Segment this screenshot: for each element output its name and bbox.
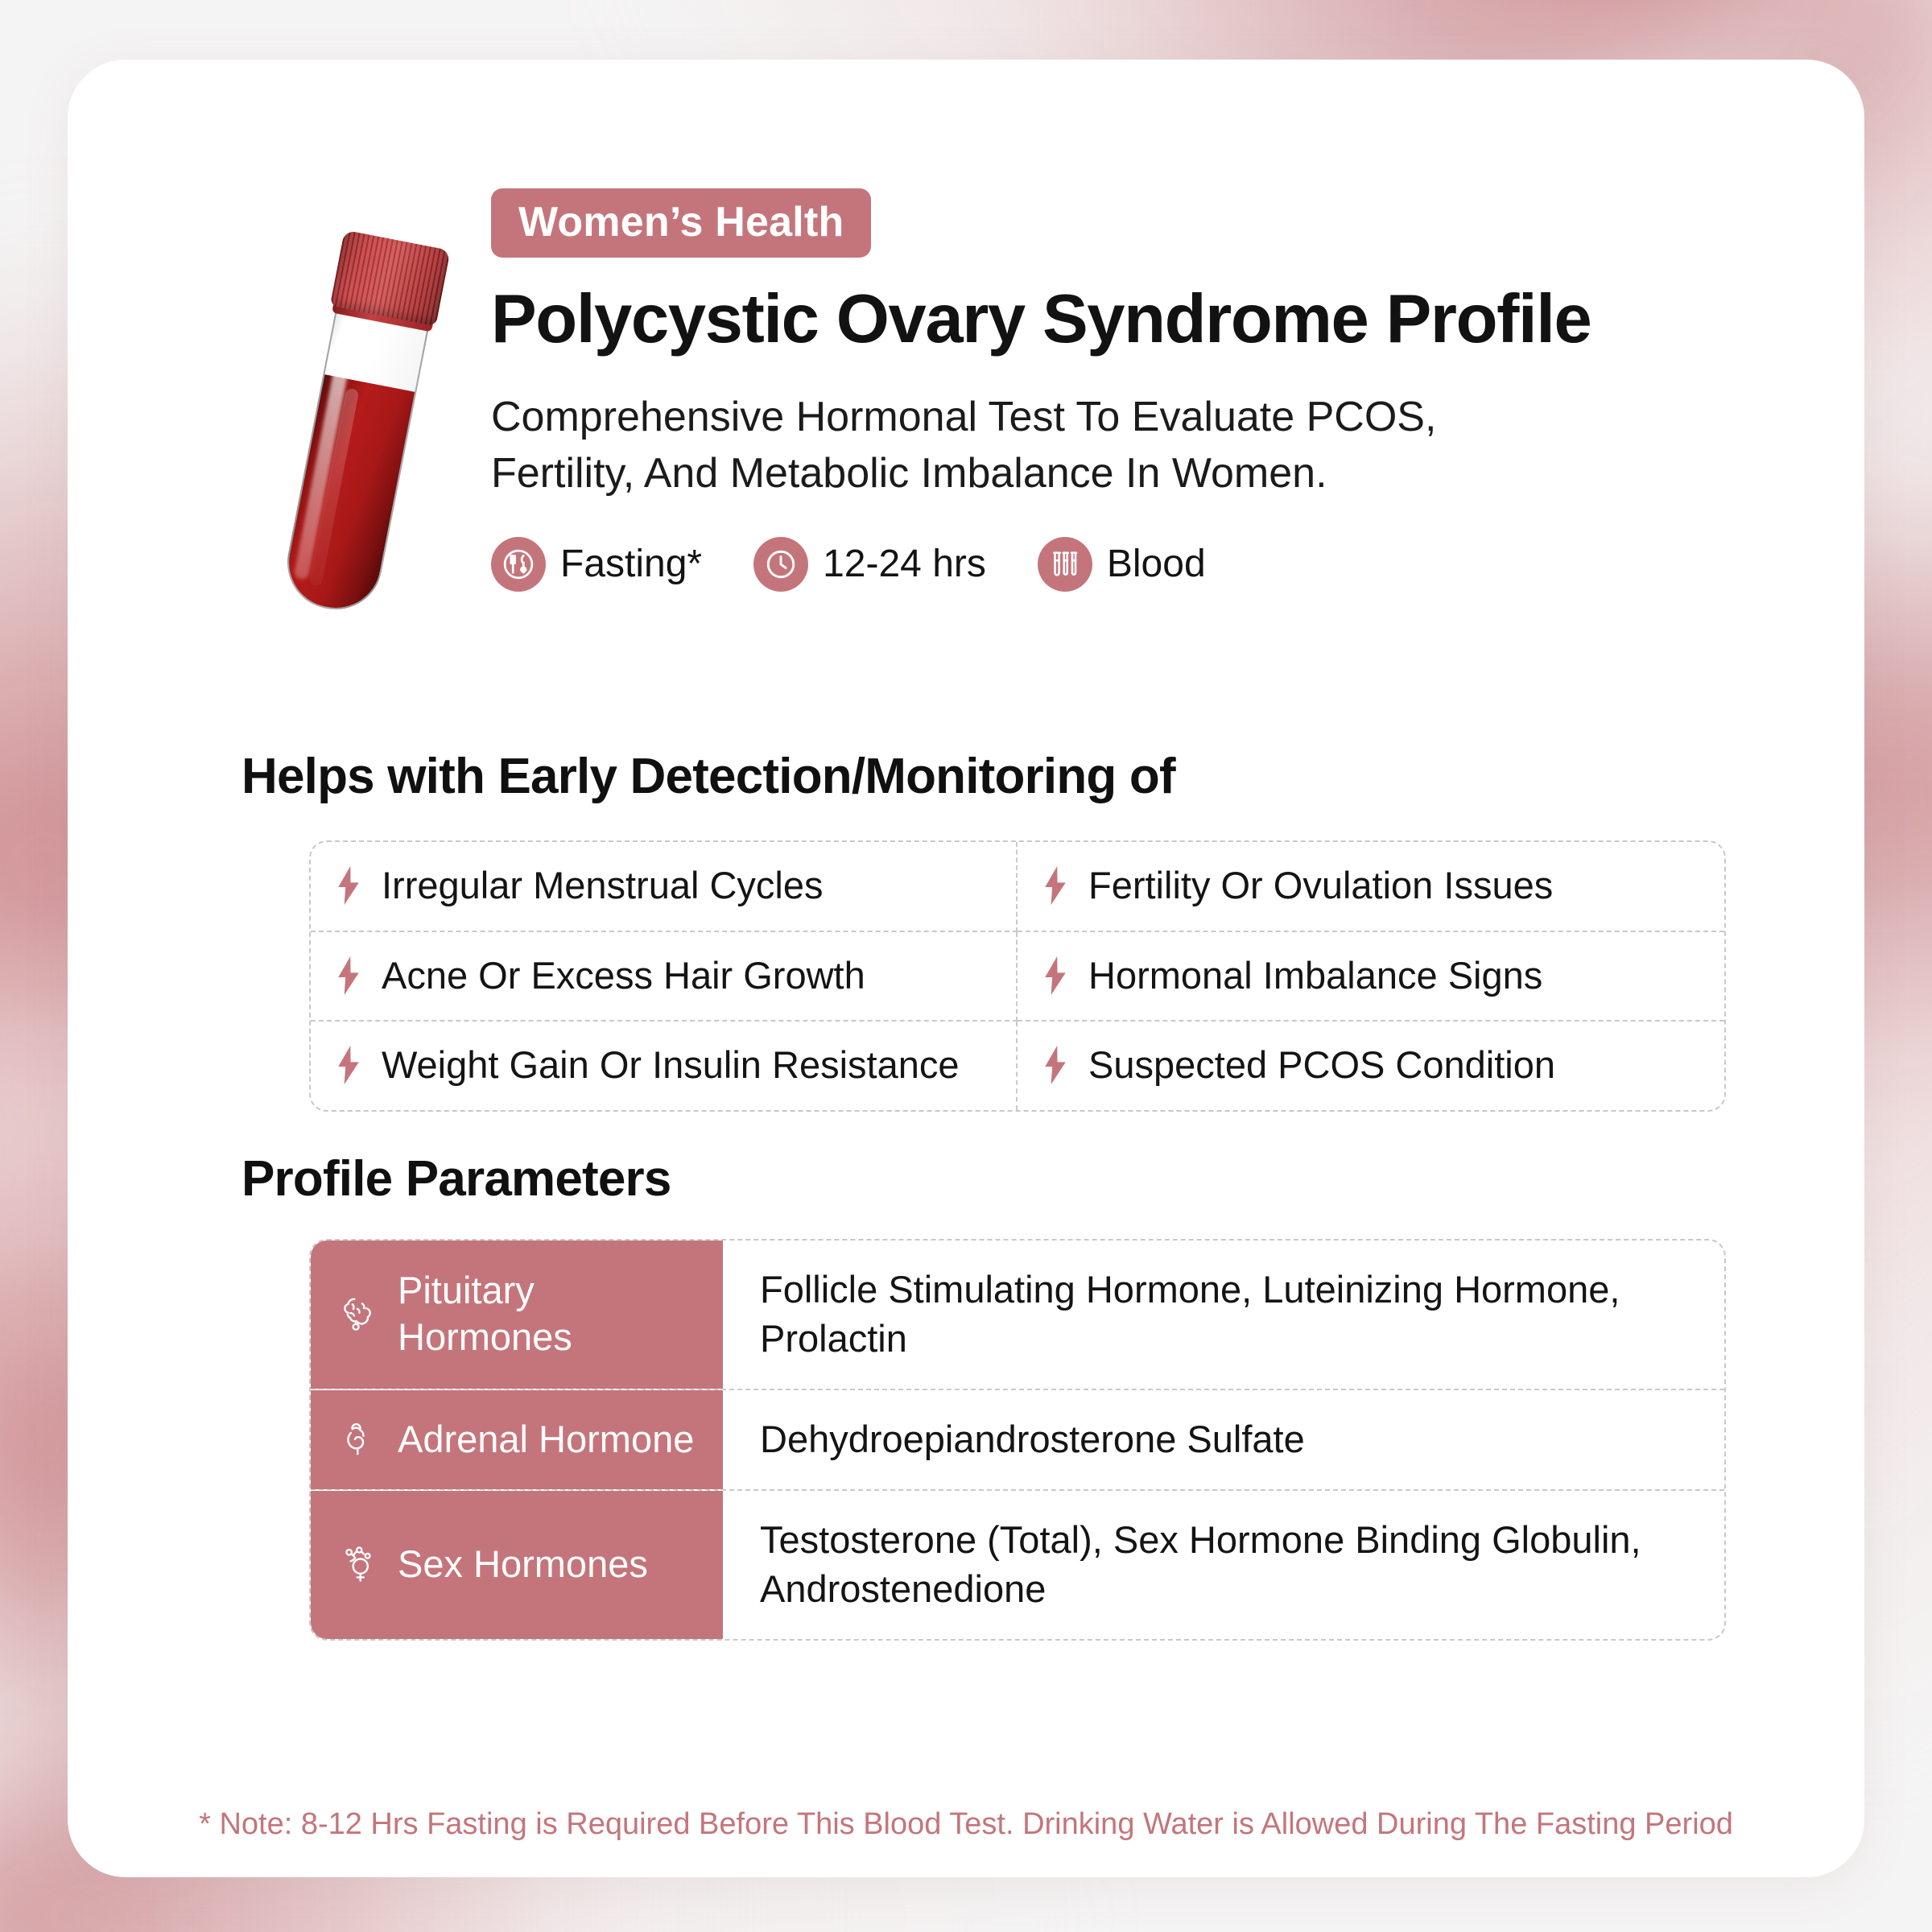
- helps-checklist-grid: Irregular Menstrual Cycles Fertility Or …: [309, 840, 1726, 1112]
- checklist-item-label: Fertility Or Ovulation Issues: [1088, 865, 1553, 906]
- meta-label-sample: Blood: [1107, 545, 1206, 584]
- info-card: Women’s Health Polycystic Ovary Syndrome…: [68, 60, 1864, 1877]
- table-row: Sex Hormones Testosterone (Total), Sex H…: [311, 1491, 1724, 1639]
- meta-row: Fasting* 12-24 hrs: [491, 537, 1755, 592]
- bolt-icon: [335, 865, 362, 906]
- parameter-category-cell: Pituitary Hormones: [311, 1241, 723, 1389]
- bolt-icon: [1042, 956, 1069, 996]
- category-badge: Women’s Health: [491, 188, 871, 258]
- no-food-fasting-icon: [491, 537, 546, 592]
- checklist-item: Hormonal Imbalance Signs: [1018, 932, 1724, 1022]
- checklist-item-label: Acne Or Excess Hair Growth: [382, 955, 865, 997]
- checklist-item: Irregular Menstrual Cycles: [311, 842, 1018, 932]
- checklist-item-label: Irregular Menstrual Cycles: [382, 865, 824, 906]
- checklist-item: Weight Gain Or Insulin Resistance: [311, 1022, 1018, 1110]
- table-row: Adrenal Hormone Dehydroepiandrosterone S…: [311, 1390, 1724, 1491]
- parameters-section-heading: Profile Parameters: [242, 1154, 671, 1204]
- bolt-icon: [335, 956, 362, 996]
- bolt-icon: [1042, 865, 1069, 906]
- parameter-category-label: Adrenal Hormone: [398, 1416, 694, 1463]
- page-title: Polycystic Ovary Syndrome Profile: [491, 283, 1755, 356]
- footer-note: * Note: 8-12 Hrs Fasting is Required Bef…: [68, 1806, 1864, 1843]
- meta-item-fasting: Fasting*: [491, 537, 702, 592]
- bolt-icon: [335, 1045, 362, 1085]
- bolt-icon: [1042, 1045, 1069, 1085]
- table-row: Pituitary Hormones Follicle Stimulating …: [311, 1241, 1724, 1390]
- test-tubes-icon: [1038, 537, 1092, 592]
- checklist-item: Acne Or Excess Hair Growth: [311, 932, 1018, 1022]
- meta-item-duration: 12-24 hrs: [753, 537, 986, 592]
- header: Women’s Health Polycystic Ovary Syndrome…: [242, 180, 1755, 647]
- checklist-item-label: Hormonal Imbalance Signs: [1088, 955, 1542, 997]
- parameter-values: Testosterone (Total), Sex Hormone Bindin…: [723, 1491, 1724, 1639]
- kidney-adrenal-icon: [338, 1417, 380, 1462]
- parameter-values: Follicle Stimulating Hormone, Luteinizin…: [723, 1241, 1724, 1389]
- checklist-item: Suspected PCOS Condition: [1018, 1022, 1724, 1110]
- parameters-table: Pituitary Hormones Follicle Stimulating …: [309, 1239, 1726, 1641]
- checklist-item: Fertility Or Ovulation Issues: [1018, 842, 1724, 932]
- parameter-category-label: Sex Hormones: [398, 1541, 648, 1587]
- meta-label-fasting: Fasting*: [560, 545, 702, 584]
- clock-icon: [753, 537, 808, 592]
- helps-section-heading: Helps with Early Detection/Monitoring of: [242, 752, 1175, 802]
- parameter-category-label: Pituitary Hormones: [398, 1267, 700, 1361]
- parameter-values: Dehydroepiandrosterone Sulfate: [723, 1390, 1724, 1489]
- checklist-item-label: Suspected PCOS Condition: [1088, 1044, 1555, 1086]
- parameter-category-cell: Adrenal Hormone: [311, 1390, 723, 1489]
- brain-pituitary-icon: [338, 1291, 380, 1336]
- meta-item-sample: Blood: [1038, 537, 1206, 592]
- page-subtitle: Comprehensive Hormonal Test To Evaluate …: [491, 390, 1562, 502]
- meta-label-duration: 12-24 hrs: [823, 545, 986, 584]
- checklist-item-label: Weight Gain Or Insulin Resistance: [382, 1044, 960, 1086]
- blood-tube-illustration: [242, 229, 483, 647]
- parameter-category-cell: Sex Hormones: [311, 1491, 723, 1639]
- sex-hormone-icon: [338, 1542, 380, 1587]
